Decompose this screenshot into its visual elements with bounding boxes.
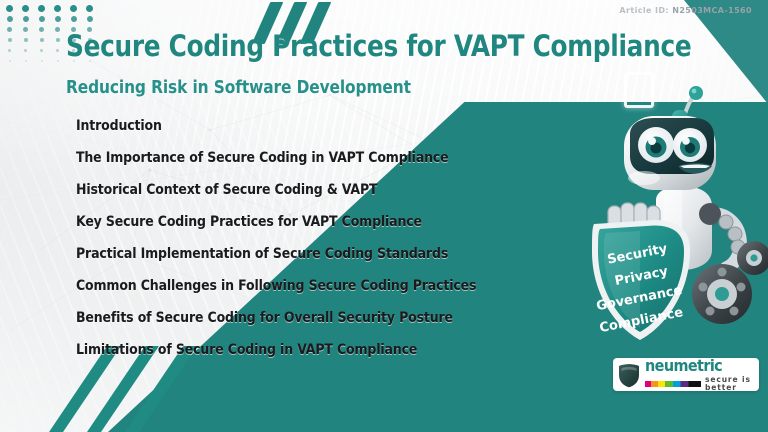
dot	[8, 49, 11, 52]
toc-item[interactable]: Limitations of Secure Coding in VAPT Com…	[76, 334, 614, 366]
dot	[23, 27, 28, 32]
dot	[24, 49, 27, 52]
dot	[8, 38, 12, 42]
dot	[71, 16, 77, 22]
dot	[56, 38, 60, 42]
dot	[9, 60, 11, 62]
toc-item[interactable]: The Importance of Secure Coding in VAPT …	[76, 142, 614, 174]
dot	[39, 16, 45, 22]
page-title: Secure Coding Practices for VAPT Complia…	[66, 31, 691, 61]
toc-item[interactable]: Introduction	[76, 110, 614, 142]
dot	[41, 60, 43, 62]
dot	[39, 27, 44, 32]
dot	[25, 60, 27, 62]
dot	[56, 49, 59, 52]
dot	[55, 16, 61, 22]
security-robot-mascot: Security Privacy Governance Compliance	[586, 82, 768, 344]
dot	[55, 27, 60, 32]
shield-icon	[618, 362, 640, 388]
toc-item[interactable]: Key Secure Coding Practices for VAPT Com…	[76, 206, 614, 238]
dot	[86, 5, 93, 12]
dot	[22, 5, 29, 12]
dot	[40, 49, 43, 52]
logo-wordmark: neumetric	[645, 358, 753, 374]
toc-item[interactable]: Practical Implementation of Secure Codin…	[76, 238, 614, 270]
dot	[24, 38, 28, 42]
dot	[54, 5, 61, 12]
article-id: Article ID: N2503MCA-1560	[619, 6, 752, 15]
article-id-value: N2503MCA-1560	[672, 6, 752, 15]
toc-item[interactable]: Benefits of Secure Coding for Overall Se…	[76, 302, 614, 334]
dot	[70, 5, 77, 12]
dot	[23, 16, 29, 22]
neumetric-logo: neumetric secure is better	[613, 358, 759, 391]
slide-canvas: Article ID: N2503MCA-1560 Secure Coding …	[0, 0, 768, 432]
dot	[6, 5, 13, 12]
dot	[7, 16, 13, 22]
dot	[38, 5, 45, 12]
dot	[87, 16, 93, 22]
dot	[7, 27, 12, 32]
logo-spectrum-bar	[645, 381, 701, 387]
page-subtitle: Reducing Risk in Software Development	[66, 77, 411, 98]
dot	[57, 60, 59, 62]
toc-item[interactable]: Common Challenges in Following Secure Co…	[76, 270, 614, 302]
logo-tagline: secure is better	[705, 376, 753, 391]
toc-item[interactable]: Historical Context of Secure Coding & VA…	[76, 174, 614, 206]
dot	[40, 38, 44, 42]
article-id-label: Article ID	[619, 6, 665, 15]
table-of-contents: IntroductionThe Importance of Secure Cod…	[76, 110, 636, 366]
